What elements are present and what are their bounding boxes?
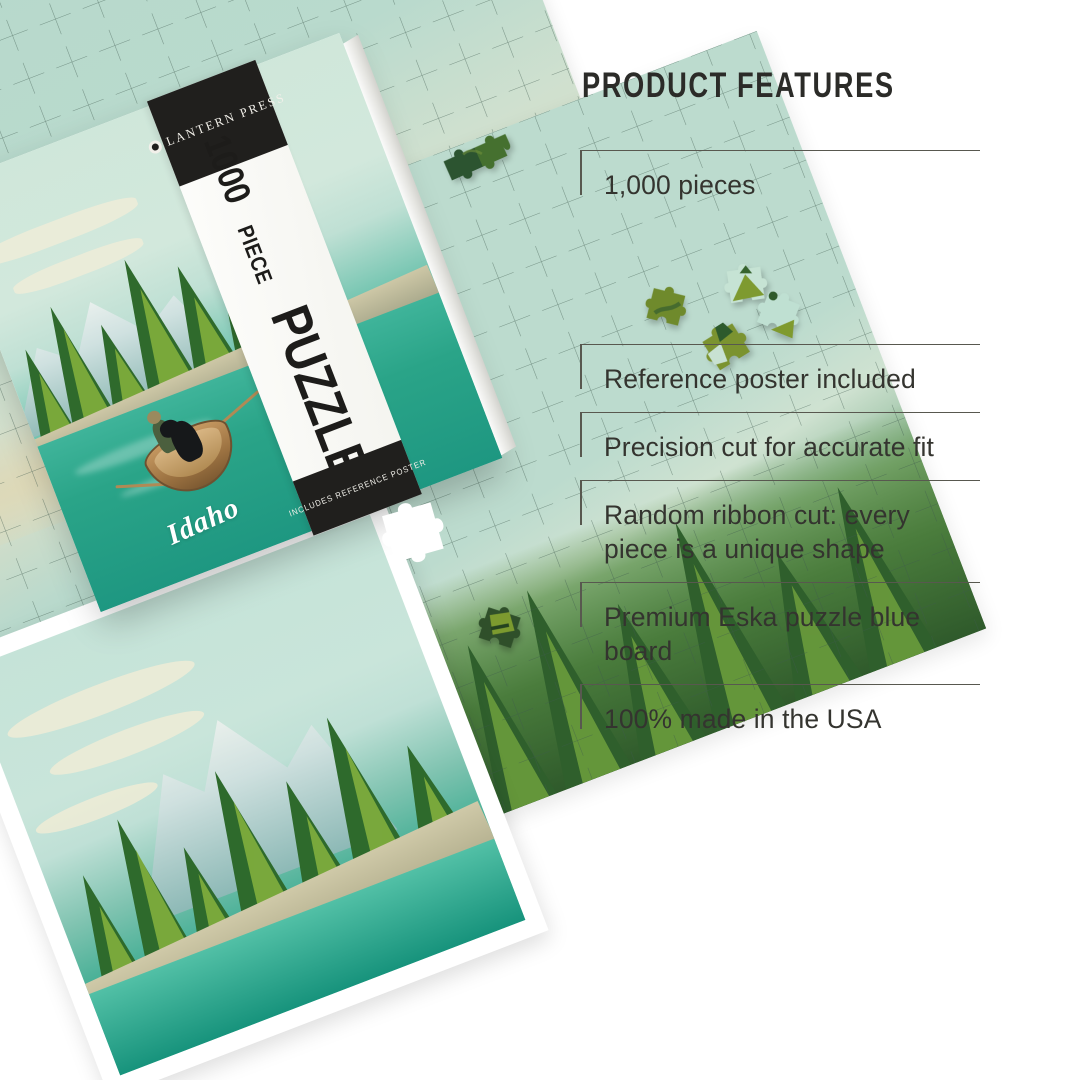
feature-item-eska-board: Premium Eska puzzle blue board [580,582,980,684]
feature-text: 100% made in the USA [604,702,964,736]
product-features-panel: PRODUCT FEATURES 1,000 pieces Reference … [580,68,980,105]
feature-text: 1,000 pieces [604,168,964,202]
piece-count: 1000 [195,129,259,209]
missing-piece-hole [378,496,450,568]
feature-item-precision-cut: Precision cut for accurate fit [580,412,980,480]
feature-item-made-in-usa: 100% made in the USA [580,684,980,752]
feature-text: Premium Eska puzzle blue board [604,600,964,668]
piece-word: PIECE [232,222,278,288]
feature-item-poster: Reference poster included [580,344,980,412]
feature-list: 1,000 pieces Reference poster included P… [580,150,980,752]
feature-text: Random ribbon cut: every piece is a uniq… [604,498,964,566]
feature-text: Precision cut for accurate fit [604,430,964,464]
feature-text: Reference poster included [604,362,964,396]
feature-item-pieces: 1,000 pieces [580,150,980,218]
page-title: PRODUCT FEATURES [582,68,892,105]
feature-item-ribbon-cut: Random ribbon cut: every piece is a uniq… [580,480,980,582]
product-feature-composite: Idaho LANTERN PRESS 1000 PIECE PUZZLE IN… [0,0,1080,1080]
